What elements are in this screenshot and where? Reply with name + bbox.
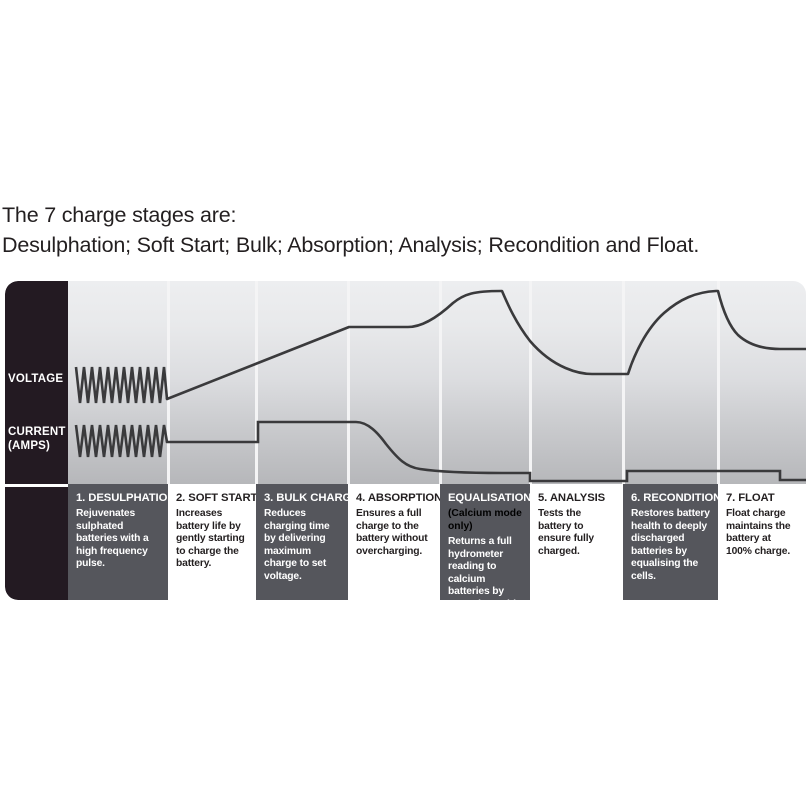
- voltage-pulse-train: [76, 367, 167, 403]
- stage-body: Increases battery life by gently startin…: [176, 508, 249, 571]
- stage-body: Float charge maintains the battery at 10…: [726, 508, 799, 558]
- stage-body: Restores battery health to deeply discha…: [631, 508, 711, 584]
- intro-line-2: Desulphation; Soft Start; Bulk; Absorpti…: [2, 230, 809, 260]
- stage-title: 1. DESULPHATION: [76, 492, 161, 505]
- stage-body: Rejuvenates sulphated batteries with a h…: [76, 508, 161, 571]
- current-curve: [167, 422, 806, 481]
- axis-label-current-units: (AMPS): [8, 439, 66, 453]
- stage-body: Ensures a full charge to the battery wit…: [356, 508, 433, 558]
- axis-label-current: CURRENT (AMPS): [8, 425, 66, 453]
- stage-subtitle: (Calcium mode only): [448, 508, 523, 533]
- stage-card-bulk-charge[interactable]: 3. BULK CHARGE Reduces charging time by …: [256, 484, 348, 600]
- stage-card-absorption[interactable]: 4. ABSORPTION Ensures a full charge to t…: [348, 484, 440, 600]
- stage-card-float[interactable]: 7. FLOAT Float charge maintains the batt…: [718, 484, 806, 600]
- voltage-curve: [167, 291, 806, 399]
- stage-title: 5. ANALYSIS: [538, 492, 616, 505]
- axis-label-current-text: CURRENT: [8, 425, 66, 439]
- current-pulse-train: [76, 425, 167, 457]
- stage-card-equalisation[interactable]: EQUALISATION (Calcium mode only) Returns…: [440, 484, 530, 600]
- axis-label-voltage: VOLTAGE: [8, 372, 63, 386]
- stage-title: 6. RECONDITION: [631, 492, 711, 505]
- sidebar-divider: [5, 484, 68, 487]
- stage-title: 2. SOFT START: [176, 492, 249, 505]
- stage-title: EQUALISATION: [448, 492, 523, 505]
- stage-title: 3. BULK CHARGE: [264, 492, 341, 505]
- stage-title: 4. ABSORPTION: [356, 492, 433, 505]
- stage-body: Returns a full hydrometer reading to cal…: [448, 536, 523, 600]
- charge-stage-diagram: 1. DESULPHATION Rejuvenates sulphated ba…: [5, 281, 806, 600]
- stage-title: 7. FLOAT: [726, 492, 799, 505]
- page-root: The 7 charge stages are: Desulphation; S…: [0, 0, 811, 811]
- stage-body: Tests the battery to ensure fully charge…: [538, 508, 616, 558]
- stage-card-recondition[interactable]: 6. RECONDITION Restores battery health t…: [623, 484, 718, 600]
- intro-text: The 7 charge stages are: Desulphation; S…: [2, 200, 809, 260]
- intro-line-1: The 7 charge stages are:: [2, 200, 809, 230]
- stage-card-soft-start[interactable]: 2. SOFT START Increases battery life by …: [168, 484, 256, 600]
- stage-card-desulphation[interactable]: 1. DESULPHATION Rejuvenates sulphated ba…: [68, 484, 168, 600]
- curve-layer: [68, 281, 806, 484]
- stage-card-analysis[interactable]: 5. ANALYSIS Tests the battery to ensure …: [530, 484, 623, 600]
- stage-row: 1. DESULPHATION Rejuvenates sulphated ba…: [68, 484, 806, 600]
- stage-body: Reduces charging time by delivering maxi…: [264, 508, 341, 584]
